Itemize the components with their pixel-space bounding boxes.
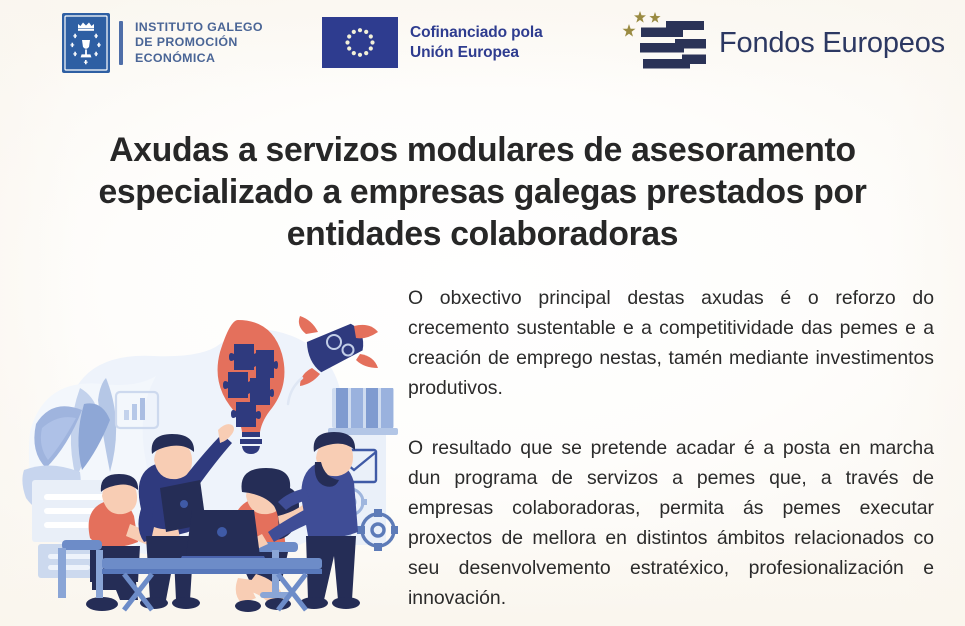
logo-eu: Cofinanciado pola Unión Europea bbox=[322, 17, 543, 68]
igape-text: INSTITUTO GALEGO DE PROMOCIÓN ECONÓMICA bbox=[135, 20, 263, 66]
fondos-europeos-label: Fondos Europeos bbox=[719, 27, 945, 60]
european-union-flag-icon bbox=[322, 17, 398, 68]
igape-line-2: DE PROMOCIÓN bbox=[135, 35, 263, 50]
body-text-column: O obxectivo principal destas axudas é o … bbox=[408, 283, 934, 613]
illustration-svg bbox=[6, 292, 398, 622]
eu-text: Cofinanciado pola Unión Europea bbox=[410, 23, 543, 63]
body-paragraph-1: O obxectivo principal destas axudas é o … bbox=[408, 283, 934, 403]
logo-bar: INSTITUTO GALEGO DE PROMOCIÓN ECONÓMICA bbox=[0, 0, 965, 88]
body-paragraph-2: O resultado que se pretende acadar é a p… bbox=[408, 433, 934, 613]
logo-fondos-europeos: Fondos Europeos bbox=[618, 8, 945, 78]
galicia-coat-of-arms-icon bbox=[62, 13, 110, 73]
laptop-icon bbox=[179, 510, 267, 562]
igape-divider bbox=[119, 21, 123, 65]
team-meeting-illustration bbox=[6, 292, 398, 622]
eu-line-1: Cofinanciado pola bbox=[410, 23, 543, 43]
stepped-bars-stars-icon bbox=[618, 8, 708, 78]
page-title: Axudas a servizos modulares de asesorame… bbox=[47, 129, 918, 255]
eu-line-2: Unión Europea bbox=[410, 43, 543, 63]
igape-line-1: INSTITUTO GALEGO bbox=[135, 20, 263, 35]
logo-igape: INSTITUTO GALEGO DE PROMOCIÓN ECONÓMICA bbox=[62, 13, 263, 73]
igape-line-3: ECONÓMICA bbox=[135, 51, 263, 66]
leaflet-page: INSTITUTO GALEGO DE PROMOCIÓN ECONÓMICA bbox=[0, 0, 965, 626]
